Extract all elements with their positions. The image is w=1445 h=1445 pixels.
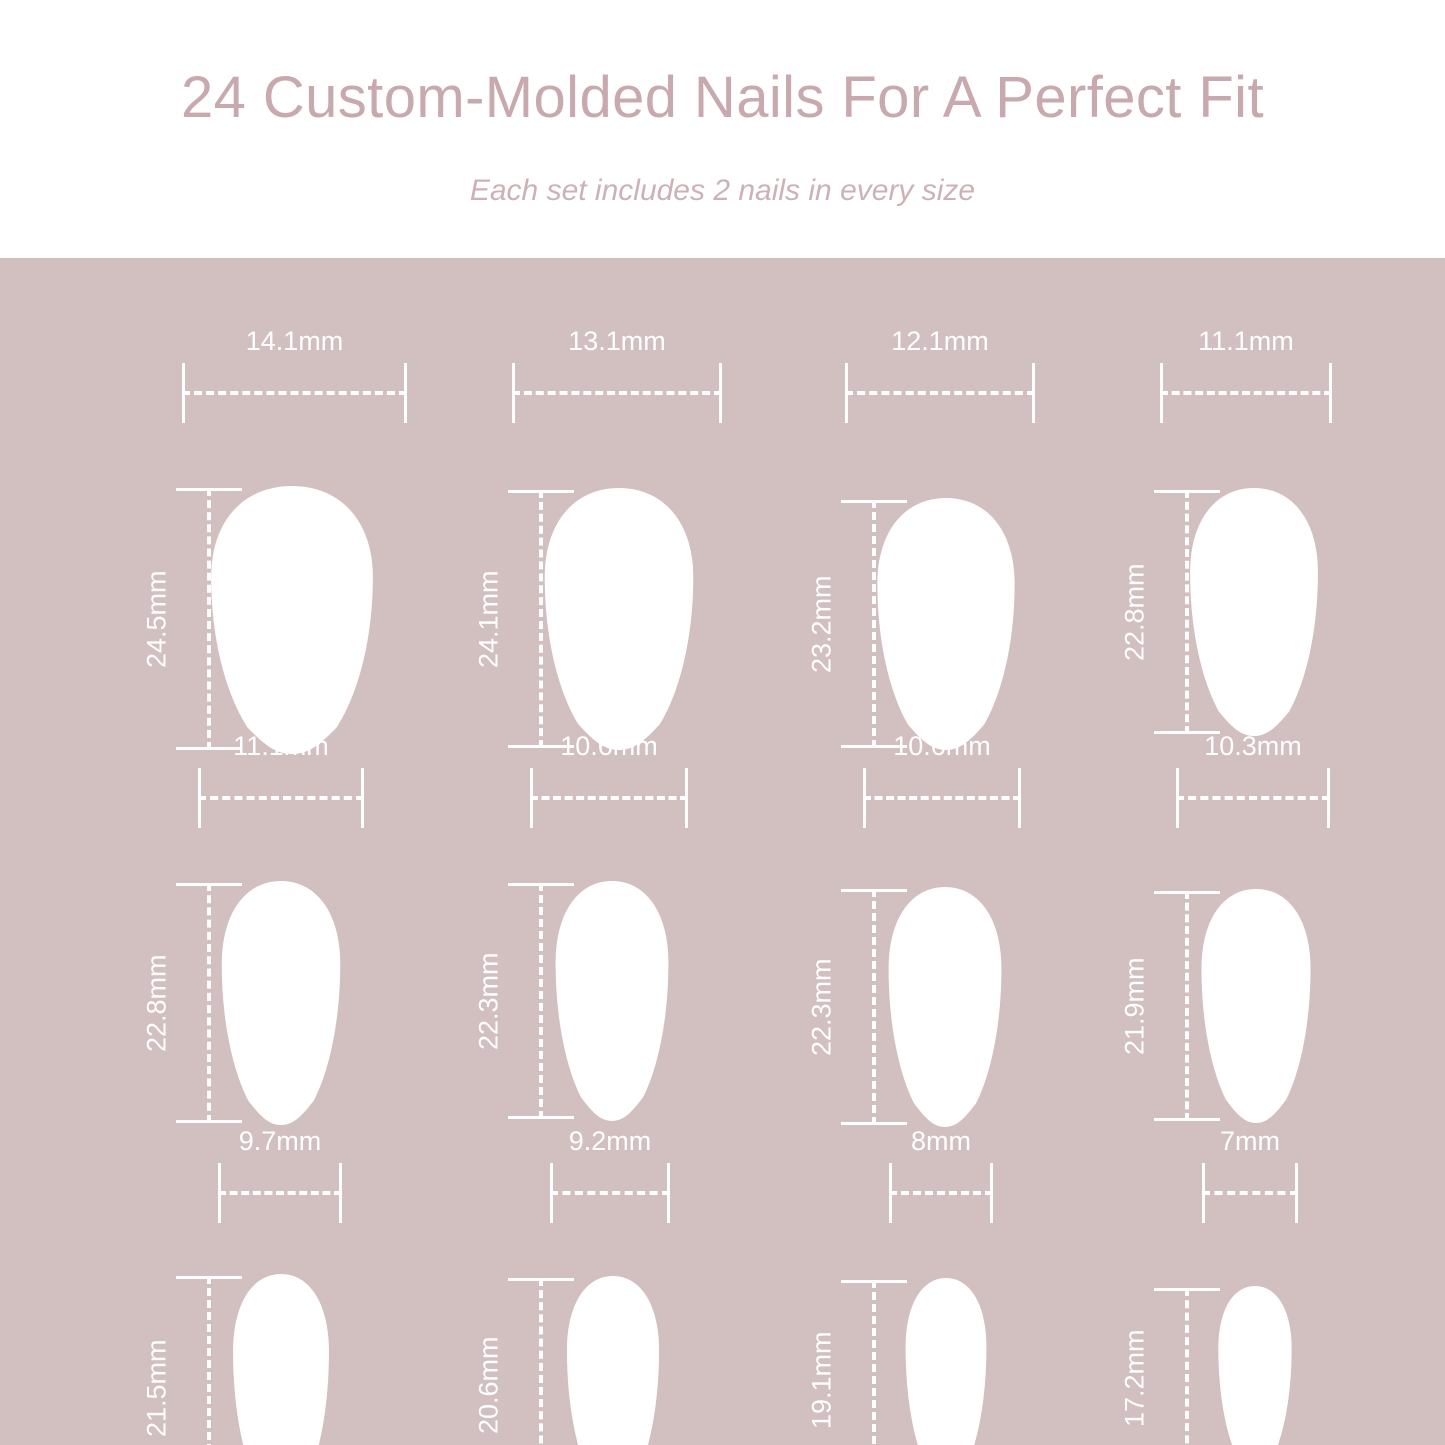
width-dimension-cap-right	[719, 363, 722, 423]
height-dimension-label: 17.2mm	[1118, 1288, 1152, 1445]
width-dimension: 13.1mm	[512, 328, 722, 423]
width-dimension-dash	[218, 1191, 342, 1195]
width-dimension-label: 9.2mm	[550, 1128, 670, 1155]
width-dimension-line	[845, 363, 1035, 423]
width-dimension-cap-right	[339, 1163, 342, 1223]
width-dimension-label: 13.1mm	[512, 328, 722, 355]
width-dimension-dash	[512, 391, 722, 395]
width-dimension: 11.1mm	[1160, 328, 1332, 423]
width-dimension: 12.1mm	[845, 328, 1035, 423]
width-dimension-line	[218, 1163, 342, 1223]
nail-size-chart-page: 24 Custom-Molded Nails For A Perfect Fit…	[0, 0, 1445, 1445]
width-dimension: 7mm	[1202, 1128, 1298, 1223]
width-dimension-dash	[889, 1191, 993, 1195]
width-dimension-dash	[198, 796, 364, 800]
height-dimension-label: 22.3mm	[472, 883, 506, 1119]
page-subtitle: Each set includes 2 nails in every size	[0, 173, 1445, 209]
width-dimension-cap-right	[361, 768, 364, 828]
width-dimension: 10.6mm	[863, 733, 1021, 828]
height-dimension-dash	[872, 1280, 876, 1445]
height-dimension-label: 22.8mm	[1118, 490, 1152, 734]
width-dimension: 10.6mm	[530, 733, 688, 828]
width-dimension: 11.1mm	[198, 733, 364, 828]
width-dimension-cap-right	[1032, 363, 1035, 423]
width-dimension-line	[182, 363, 407, 423]
width-dimension-dash	[182, 391, 407, 395]
nail-shape	[540, 488, 698, 750]
width-dimension-line	[550, 1163, 670, 1223]
header-banner: 24 Custom-Molded Nails For A Perfect Fit…	[0, 0, 1445, 258]
width-dimension-label: 14.1mm	[182, 328, 407, 355]
width-dimension-dash	[550, 1191, 670, 1195]
width-dimension-dash	[1160, 391, 1332, 395]
width-dimension-line	[1160, 363, 1332, 423]
nail-shape	[1186, 488, 1322, 736]
height-dimension-label: 21.9mm	[1118, 891, 1152, 1121]
height-dimension-dash	[872, 889, 876, 1125]
width-dimension-label: 10.3mm	[1176, 733, 1330, 760]
height-dimension: 17.2mm	[1118, 1288, 1220, 1445]
height-dimension-label: 24.5mm	[140, 488, 174, 750]
height-dimension-label: 22.3mm	[805, 889, 839, 1125]
height-dimension-dash	[207, 883, 211, 1123]
height-dimension-dash	[539, 883, 543, 1119]
width-dimension-dash	[1202, 1191, 1298, 1195]
width-dimension-label: 11.1mm	[1160, 328, 1332, 355]
width-dimension-label: 10.6mm	[530, 733, 688, 760]
nail-shape	[206, 486, 378, 754]
height-dimension-line	[1154, 1288, 1220, 1445]
height-dimension-dash	[1185, 891, 1189, 1121]
width-dimension-cap-right	[404, 363, 407, 423]
width-dimension-cap-right	[1018, 768, 1021, 828]
height-dimension-label: 20.6mm	[472, 1278, 506, 1445]
width-dimension-line	[512, 363, 722, 423]
nail-shape	[1216, 1286, 1294, 1445]
width-dimension-label: 9.7mm	[218, 1128, 342, 1155]
height-dimension-dash	[539, 1278, 543, 1445]
width-dimension-line	[863, 768, 1021, 828]
width-dimension: 8mm	[889, 1128, 993, 1223]
height-dimension-dash	[207, 1276, 211, 1445]
width-dimension-label: 12.1mm	[845, 328, 1035, 355]
height-dimension: 20.6mm	[472, 1278, 574, 1445]
width-dimension-dash	[530, 796, 688, 800]
nail-shape	[552, 881, 672, 1121]
height-dimension: 19.1mm	[805, 1280, 907, 1445]
width-dimension-cap-right	[1295, 1163, 1298, 1223]
width-dimension-label: 11.1mm	[198, 733, 364, 760]
width-dimension-label: 10.6mm	[863, 733, 1021, 760]
width-dimension-cap-right	[1327, 768, 1330, 828]
page-title: 24 Custom-Molded Nails For A Perfect Fit	[0, 66, 1445, 130]
width-dimension-cap-right	[990, 1163, 993, 1223]
nail-shape	[564, 1276, 662, 1445]
width-dimension-line	[889, 1163, 993, 1223]
width-dimension-line	[1176, 768, 1330, 828]
nail-shape	[218, 881, 344, 1125]
width-dimension: 9.7mm	[218, 1128, 342, 1223]
width-dimension-cap-right	[685, 768, 688, 828]
width-dimension-dash	[845, 391, 1035, 395]
width-dimension-cap-right	[667, 1163, 670, 1223]
nail-shape	[873, 498, 1019, 750]
width-dimension-line	[530, 768, 688, 828]
nail-shape	[885, 887, 1005, 1127]
width-dimension-dash	[1176, 796, 1330, 800]
nail-shape	[1198, 889, 1314, 1123]
nail-shape	[230, 1274, 332, 1445]
height-dimension-dash	[1185, 1288, 1189, 1445]
height-dimension-label: 24.1mm	[472, 490, 506, 748]
height-dimension-label: 23.2mm	[805, 500, 839, 748]
height-dimension: 21.5mm	[140, 1276, 242, 1445]
width-dimension: 9.2mm	[550, 1128, 670, 1223]
height-dimension-label: 21.5mm	[140, 1276, 174, 1445]
width-dimension-cap-right	[1329, 363, 1332, 423]
width-dimension-label: 8mm	[889, 1128, 993, 1155]
width-dimension-dash	[863, 796, 1021, 800]
width-dimension: 10.3mm	[1176, 733, 1330, 828]
height-dimension-label: 22.8mm	[140, 883, 174, 1123]
width-dimension-line	[1202, 1163, 1298, 1223]
nail-size-grid: 14.1mm24.5mm13.1mm24.1mm12.1mm23.2mm11.1…	[0, 258, 1445, 1445]
width-dimension-line	[198, 768, 364, 828]
height-dimension-label: 19.1mm	[805, 1280, 839, 1445]
width-dimension: 14.1mm	[182, 328, 407, 423]
height-dimension-line	[841, 1280, 907, 1445]
nail-shape	[903, 1278, 989, 1445]
width-dimension-label: 7mm	[1202, 1128, 1298, 1155]
